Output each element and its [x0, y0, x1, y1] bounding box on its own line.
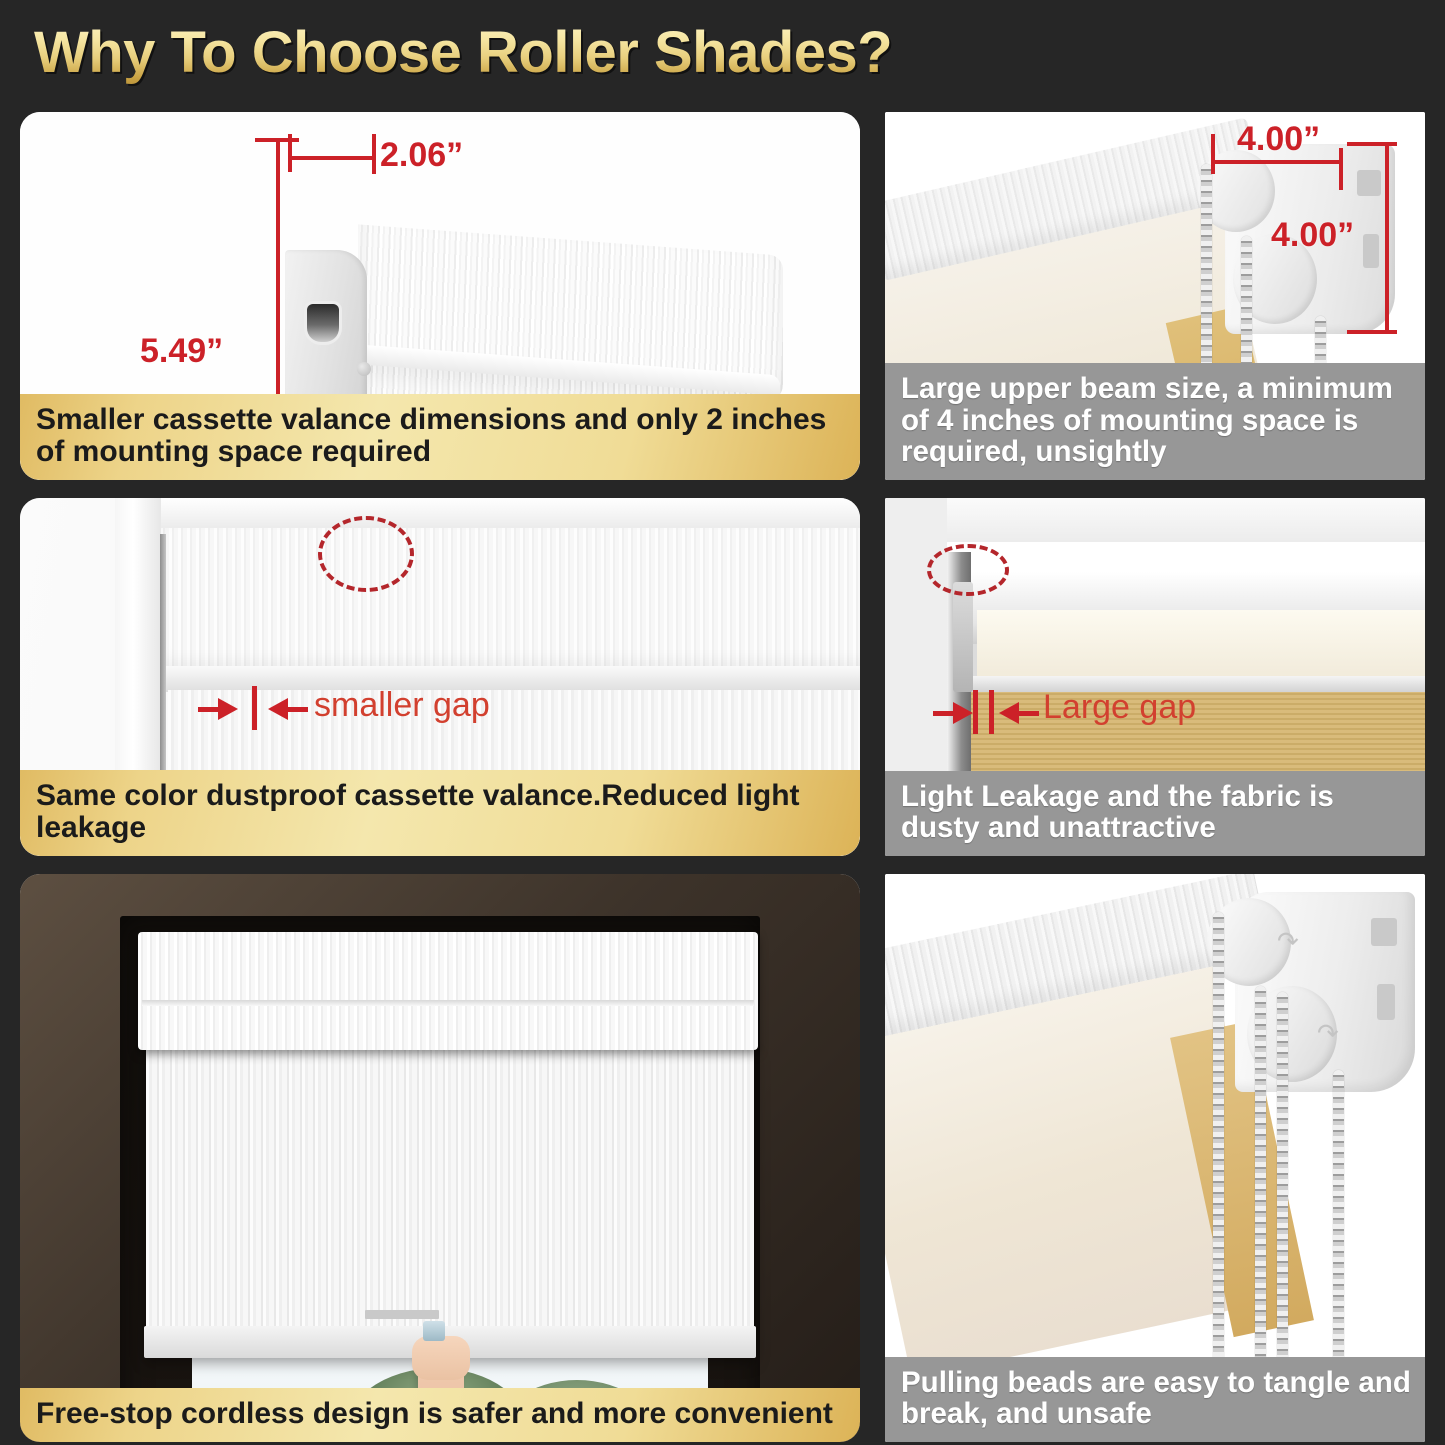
rotate-arrow-icon: ↷ [1317, 1018, 1339, 1049]
bead-chain [1333, 1070, 1344, 1370]
screw-icon [357, 362, 371, 376]
arrow-left-icon [999, 702, 1019, 724]
dimension-label-width: 4.00” [1237, 120, 1320, 159]
panel-cordless-design: Free-stop cordless design is safer and m… [20, 874, 860, 1442]
dimension-label-width: 2.06” [380, 136, 463, 175]
panel-pulling-beads: ↷ ↷ Pulling beads are easy to tangle and… [885, 874, 1425, 1442]
hand-fingers [412, 1336, 470, 1380]
arrow-left-icon [268, 698, 288, 720]
panel-smaller-cassette: 2.06” 5.49” Smaller cassette valance dim… [20, 112, 860, 480]
rotate-arrow-icon: ↷ [1277, 926, 1299, 957]
panel-caption: Pulling beads are easy to tangle and bre… [885, 1357, 1425, 1442]
pull-handle [423, 1321, 445, 1341]
arrow-right-icon [953, 702, 973, 724]
comparison-grid: 2.06” 5.49” Smaller cassette valance dim… [20, 112, 1425, 1425]
panel-large-upper-beam: 4.00” 4.00” Large upper beam size, a min… [885, 112, 1425, 480]
mounting-clip-icon [953, 582, 973, 692]
bracket-slot-icon [307, 304, 339, 342]
bead-chain [1255, 986, 1266, 1368]
header: Why To Choose Roller Shades? [0, 0, 1445, 105]
panel-dustproof-cassette: smaller gap Same color dustproof cassett… [20, 498, 860, 856]
dimension-label-height: 4.00” [1271, 216, 1354, 255]
panel-caption: Same color dustproof cassette valance.Re… [20, 770, 860, 856]
bead-chain [1213, 912, 1224, 1368]
panel-caption: Large upper beam size, a minimum of 4 in… [885, 363, 1425, 480]
panel-caption: Light Leakage and the fabric is dusty an… [885, 771, 1425, 856]
gap-label: Large gap [1043, 688, 1196, 727]
panel-caption: Smaller cassette valance dimensions and … [20, 394, 860, 480]
gap-label: smaller gap [314, 686, 490, 725]
dimension-label-height: 5.49” [140, 332, 223, 371]
product-photo-cordless-window [20, 874, 860, 1442]
bead-chain [1277, 992, 1288, 1368]
panel-light-leakage: Large gap Light Leakage and the fabric i… [885, 498, 1425, 856]
highlight-circle-icon [318, 516, 414, 592]
page-title: Why To Choose Roller Shades? [34, 19, 892, 86]
panel-caption: Free-stop cordless design is safer and m… [20, 1388, 860, 1442]
highlight-circle-icon [927, 544, 1009, 596]
brand-label [365, 1310, 439, 1319]
arrow-right-icon [218, 698, 238, 720]
